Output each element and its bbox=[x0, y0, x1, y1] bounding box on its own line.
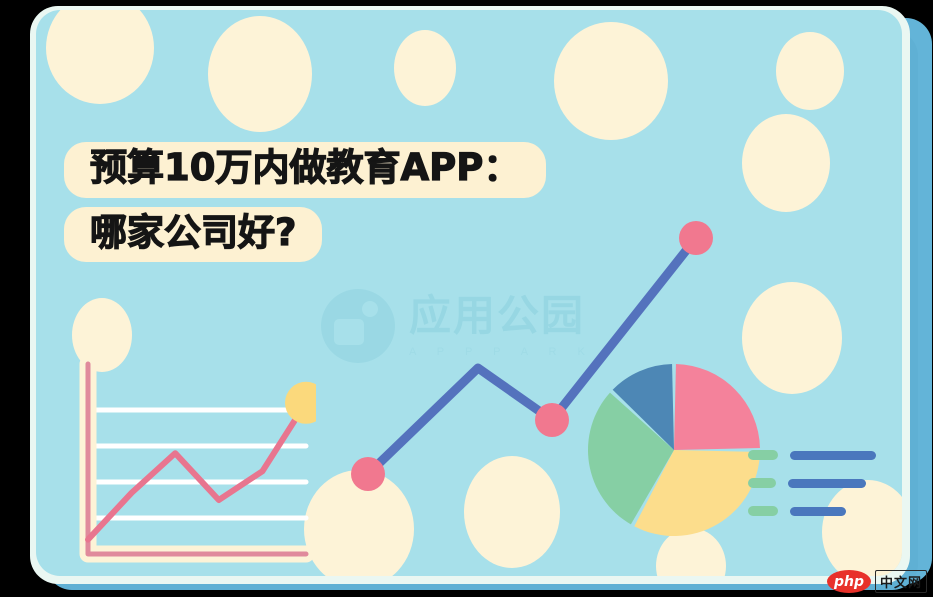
main-trend-data-point bbox=[679, 221, 713, 255]
legend-row bbox=[748, 450, 878, 460]
legend-bar bbox=[788, 479, 866, 488]
screenshot-stage: 应用公园 A P P P A R K bbox=[0, 0, 933, 597]
title-text-1: 预算10万内做教育APP： bbox=[90, 146, 520, 189]
mini-growth-chart-svg bbox=[56, 350, 316, 576]
decorative-circle bbox=[776, 32, 844, 110]
mini-chart-gridlines bbox=[96, 410, 306, 518]
pie-chart-svg bbox=[584, 360, 764, 540]
title-line-1: 预算10万内做教育APP： bbox=[64, 142, 546, 198]
main-trend-data-point bbox=[535, 403, 569, 437]
legend-bar bbox=[790, 507, 846, 516]
legend-panel bbox=[748, 450, 878, 534]
decorative-circle bbox=[208, 16, 312, 132]
php-logo-text: php bbox=[834, 575, 864, 589]
decorative-circle bbox=[554, 22, 668, 140]
title-text-2: 哪家公司好? bbox=[90, 211, 296, 254]
legend-row bbox=[748, 478, 878, 488]
pie-slice bbox=[674, 364, 760, 450]
decorative-circle bbox=[394, 30, 456, 106]
php-watermark-badge: php 中文网 bbox=[827, 570, 927, 593]
decorative-circle bbox=[46, 10, 154, 104]
legend-bar bbox=[790, 451, 876, 460]
php-site-name: 中文网 bbox=[875, 570, 927, 593]
legend-swatch bbox=[748, 478, 776, 488]
page-title: 预算10万内做教育APP：哪家公司好? bbox=[64, 142, 546, 271]
category-breakdown-pie bbox=[584, 360, 764, 540]
legend-row bbox=[748, 506, 878, 516]
legend-swatch bbox=[748, 506, 778, 516]
php-logo-icon: php bbox=[827, 570, 871, 593]
mini-growth-chart bbox=[56, 350, 316, 576]
legend-swatch bbox=[748, 450, 778, 460]
title-line-2: 哪家公司好? bbox=[64, 207, 322, 263]
main-trend-data-point bbox=[351, 457, 385, 491]
illustration-card: 应用公园 A P P P A R K bbox=[36, 10, 902, 576]
pie-slice-group bbox=[588, 364, 760, 536]
